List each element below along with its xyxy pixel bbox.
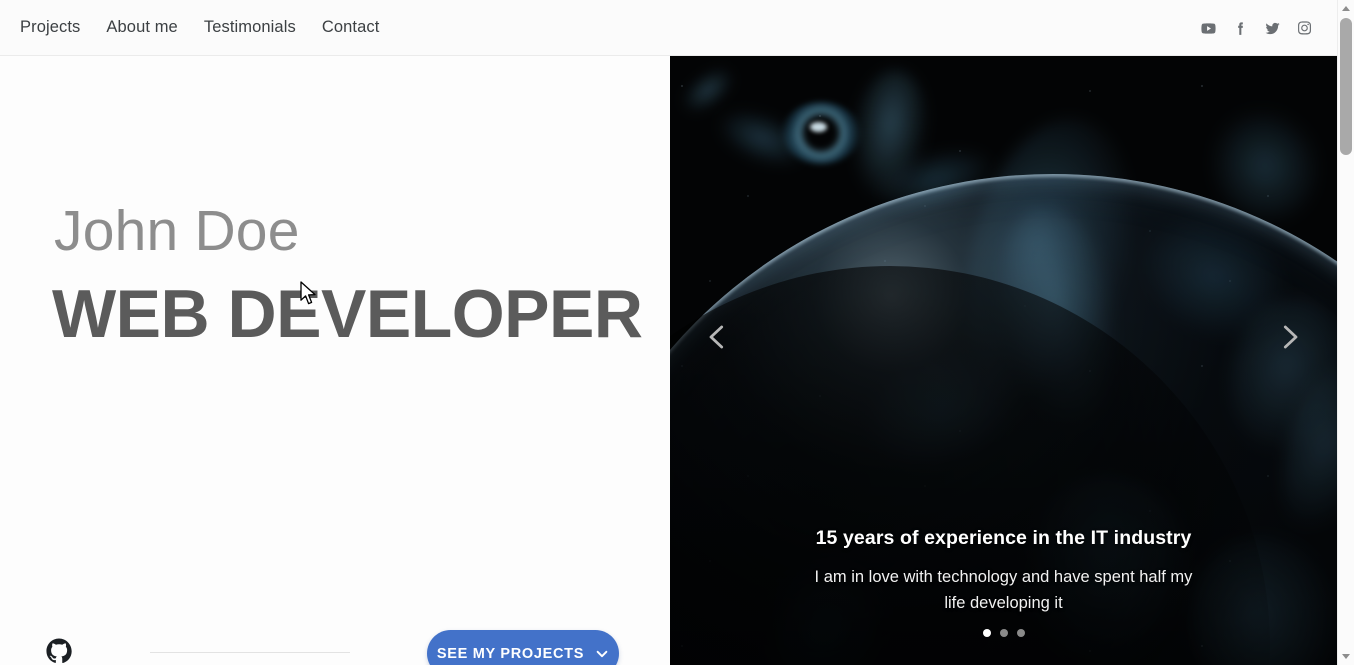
carousel-caption-text: I am in love with technology and have sp… [804, 564, 1204, 616]
chevron-left-icon [701, 321, 733, 353]
nav-link-contact[interactable]: Contact [322, 19, 380, 36]
top-navbar: Projects About me Testimonials Contact [0, 0, 1337, 56]
scrollbar-thumb[interactable] [1340, 18, 1352, 155]
carousel-dots [670, 629, 1337, 637]
hero-image-carousel[interactable]: 15 years of experience in the IT industr… [670, 56, 1337, 665]
nav-link-about-me[interactable]: About me [106, 19, 177, 36]
hero-section: John Doe WEB DEVELOPER SEE MY PROJECTS [0, 56, 670, 665]
page-content: Projects About me Testimonials Contact [0, 0, 1337, 665]
carousel-prev-button[interactable] [694, 314, 740, 360]
carousel-dot-2[interactable] [1000, 629, 1008, 637]
scroll-down-arrow-icon[interactable] [1338, 648, 1354, 665]
hero-role-title: WEB DEVELOPER [52, 280, 642, 348]
hero-bottom-row: SEE MY PROJECTS [0, 564, 670, 665]
nav-link-projects[interactable]: Projects [20, 19, 80, 36]
vertical-scrollbar[interactable] [1337, 0, 1354, 665]
facebook-icon[interactable] [1232, 20, 1249, 37]
carousel-dot-1[interactable] [983, 629, 991, 637]
carousel-dot-3[interactable] [1017, 629, 1025, 637]
see-my-projects-label: SEE MY PROJECTS [437, 646, 584, 662]
carousel-next-button[interactable] [1267, 314, 1313, 360]
see-my-projects-button[interactable]: SEE MY PROJECTS [427, 630, 619, 665]
carousel-caption: 15 years of experience in the IT industr… [670, 526, 1337, 616]
hero-name: John Doe [54, 203, 300, 260]
carousel-caption-title: 15 years of experience in the IT industr… [730, 526, 1277, 551]
chevron-right-icon [1274, 321, 1306, 353]
nav-link-testimonials[interactable]: Testimonials [204, 19, 296, 36]
scroll-up-arrow-icon[interactable] [1338, 0, 1354, 17]
github-icon[interactable] [46, 638, 72, 664]
social-links-group [1200, 0, 1313, 56]
nav-links-group: Projects About me Testimonials Contact [20, 19, 379, 36]
twitter-icon[interactable] [1264, 20, 1281, 37]
hero-divider-line [150, 652, 350, 653]
chevron-down-icon [595, 647, 609, 661]
youtube-icon[interactable] [1200, 20, 1217, 37]
instagram-icon[interactable] [1296, 20, 1313, 37]
browser-viewport: Projects About me Testimonials Contact [0, 0, 1354, 665]
